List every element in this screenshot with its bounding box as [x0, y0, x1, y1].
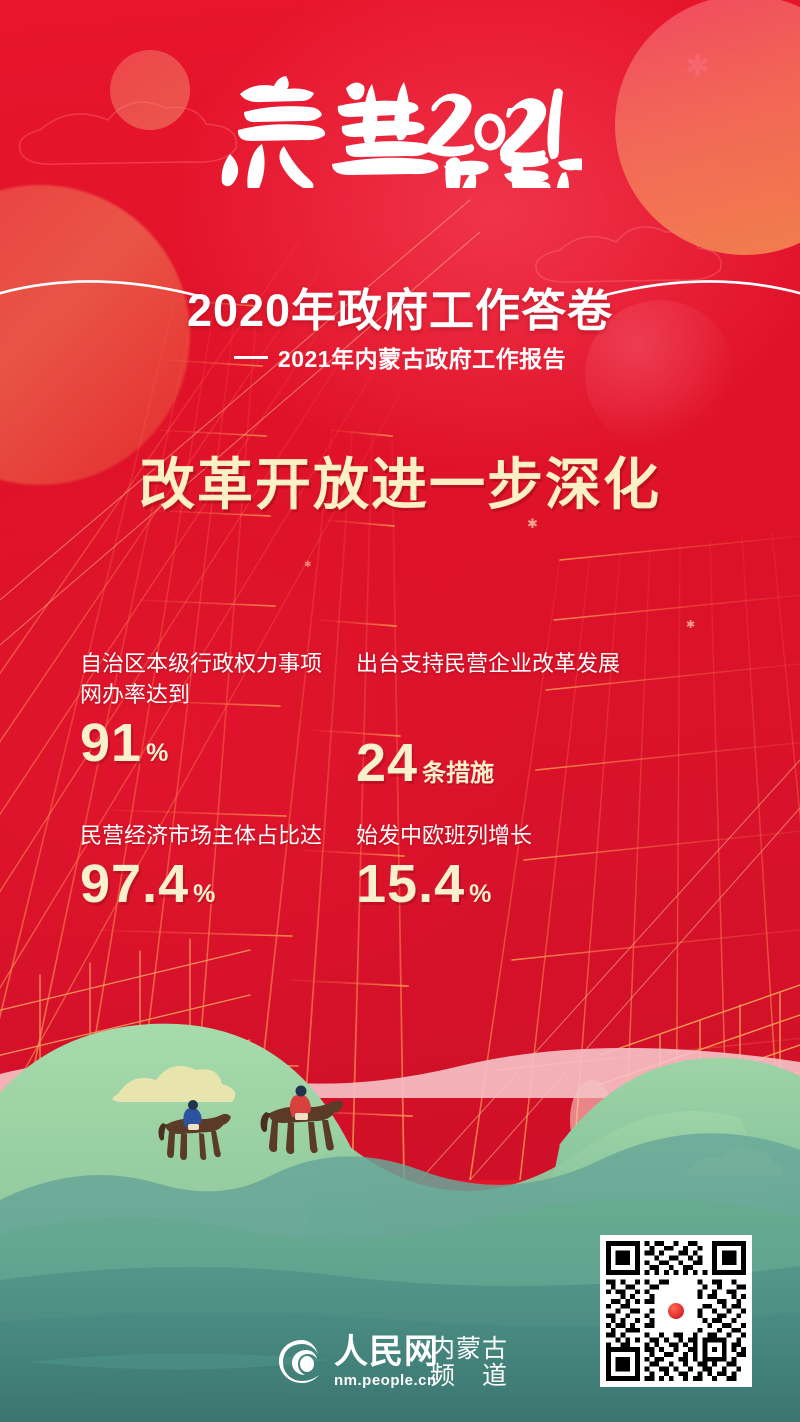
- stat-unit: %: [469, 880, 491, 908]
- qr-center-logo: [656, 1291, 696, 1331]
- stat-unit: %: [193, 880, 215, 908]
- stats-row-2: 民营经济市场主体占比达 97.4% 始发中欧班列增长 15.4%: [0, 820, 800, 911]
- stat-number: 15.4: [356, 854, 465, 914]
- stat-number: 91: [80, 713, 142, 773]
- stat-china-europe-train-growth: 始发中欧班列增长 15.4%: [348, 820, 800, 911]
- channel-line-1: 内蒙古: [430, 1336, 517, 1363]
- footer-people-logo[interactable]: 人民网 nm.people.cn: [276, 1336, 439, 1388]
- stat-label: 民营经济市场主体占比达: [80, 820, 348, 851]
- stats-row-1: 自治区本级行政权力事项 网办率达到 91% 出台支持民营企业改革发展 24条措施: [0, 648, 800, 790]
- horse-rider-red: [258, 1084, 358, 1164]
- stat-value: 24条措施: [356, 736, 800, 790]
- people-daily-mark-icon: [668, 1303, 684, 1319]
- subtitle-row: 2021年内蒙古政府工作报告: [0, 340, 800, 374]
- stat-value: 15.4%: [356, 857, 800, 911]
- stat-unit: %: [146, 739, 168, 767]
- stat-unit: 条措施: [422, 760, 494, 787]
- stat-label: 始发中欧班列增长: [356, 820, 800, 851]
- poster-root: ✱ ✱ ✱ ✱: [0, 0, 800, 1422]
- stat-private-enterprise-measures: 出台支持民营企业改革发展 24条措施: [348, 648, 800, 790]
- stat-label: 出台支持民营企业改革发展: [356, 648, 800, 710]
- site-url: nm.people.cn: [334, 1373, 439, 1388]
- channel-line-2: 频 道: [430, 1363, 517, 1390]
- headline: 改革开放进一步深化: [0, 440, 800, 521]
- stat-number: 24: [356, 733, 418, 793]
- site-name: 人民网: [334, 1336, 439, 1370]
- footer-channel: 内蒙古 频 道: [430, 1336, 517, 1390]
- brand-calligraphy-logo: [218, 66, 582, 188]
- stat-label: 自治区本级行政权力事项 网办率达到: [80, 648, 348, 710]
- stat-value: 97.4%: [80, 857, 348, 911]
- footer-logo-text: 人民网 nm.people.cn: [334, 1336, 439, 1388]
- stat-private-economy-share: 民营经济市场主体占比达 97.4%: [0, 820, 348, 911]
- stat-online-handling-rate: 自治区本级行政权力事项 网办率达到 91%: [0, 648, 348, 790]
- horse-rider-blue: [155, 1097, 245, 1167]
- subtitle-dash: [234, 356, 268, 359]
- people-daily-logo-icon: [276, 1336, 328, 1388]
- stats-grid: 自治区本级行政权力事项 网办率达到 91% 出台支持民营企业改革发展 24条措施…: [0, 648, 800, 911]
- page-title: 2020年政府工作答卷: [0, 274, 800, 339]
- stat-number: 97.4: [80, 854, 189, 914]
- qr-code[interactable]: [600, 1235, 752, 1387]
- stat-value: 91%: [80, 716, 348, 770]
- page-subtitle: 2021年内蒙古政府工作报告: [278, 340, 566, 374]
